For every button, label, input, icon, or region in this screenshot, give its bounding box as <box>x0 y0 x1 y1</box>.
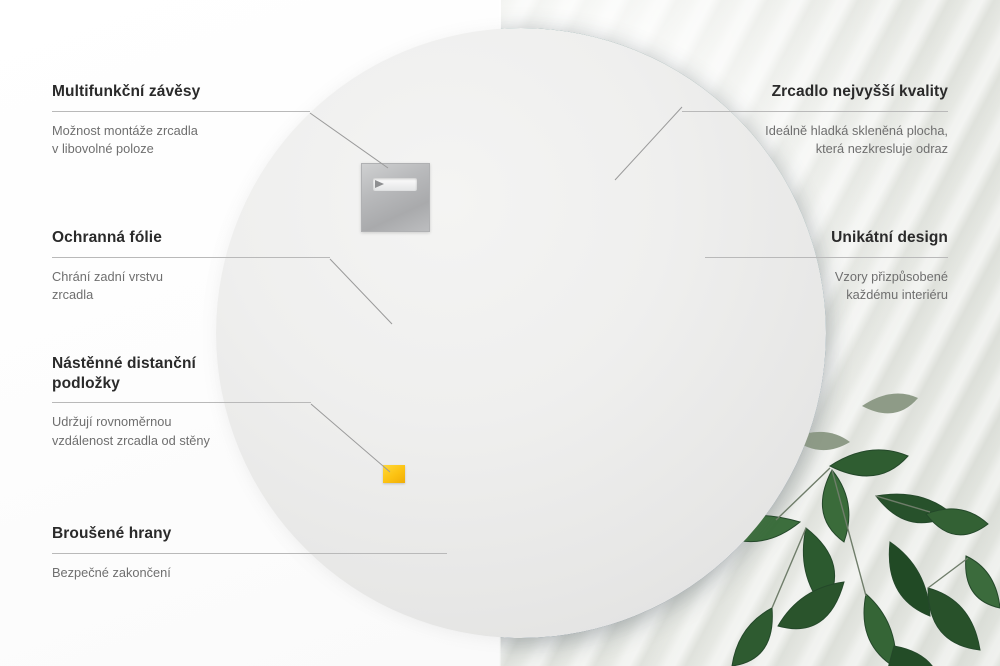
callout-rule <box>682 111 948 112</box>
callout-description: Vzory přizpůsobené každému interiéru <box>705 268 948 305</box>
callout-title: Ochranná fólie <box>52 228 330 248</box>
leader-multifunkcni <box>310 113 388 168</box>
callout-zrcadlo-nejvyssi-kvality: Zrcadlo nejvyšší kvality Ideálně hladká … <box>682 82 948 159</box>
callout-title: Multifunkční závěsy <box>52 82 310 102</box>
callout-title: Zrcadlo nejvyšší kvality <box>682 82 948 102</box>
callout-ochranna-folie: Ochranná fólie Chrání zadní vrstvu zrcad… <box>52 228 330 305</box>
leader-ochranna <box>330 259 392 324</box>
callout-rule <box>52 257 330 258</box>
leader-podlozky <box>311 404 390 472</box>
callout-nastenne-distancni-podlozky: Nástěnné distanční podložky Udržují rovn… <box>52 354 311 450</box>
callout-description: Chrání zadní vrstvu zrcadla <box>52 268 330 305</box>
callout-rule <box>52 553 447 554</box>
callout-rule <box>52 111 310 112</box>
callout-unikatni-design: Unikátní design Vzory přizpůsobené každé… <box>705 228 948 305</box>
callout-description: Udržují rovnoměrnou vzdálenost zrcadla o… <box>52 413 311 450</box>
callout-title: Unikátní design <box>705 228 948 248</box>
callout-description: Možnost montáže zrcadla v libovolné polo… <box>52 122 310 159</box>
callout-description: Ideálně hladká skleněná plocha, která ne… <box>682 122 948 159</box>
callout-multifunkcni-zavesy: Multifunkční závěsy Možnost montáže zrca… <box>52 82 310 159</box>
callout-description: Bezpečné zakončení <box>52 564 447 583</box>
leader-zrcadlo <box>615 107 682 180</box>
callout-rule <box>52 402 311 403</box>
infographic-canvas: Multifunkční závěsy Možnost montáže zrca… <box>0 0 1000 666</box>
callout-rule <box>705 257 948 258</box>
callout-title: Broušené hrany <box>52 524 447 544</box>
callout-brousene-hrany: Broušené hrany Bezpečné zakončení <box>52 524 447 582</box>
callout-title: Nástěnné distanční podložky <box>52 354 311 393</box>
